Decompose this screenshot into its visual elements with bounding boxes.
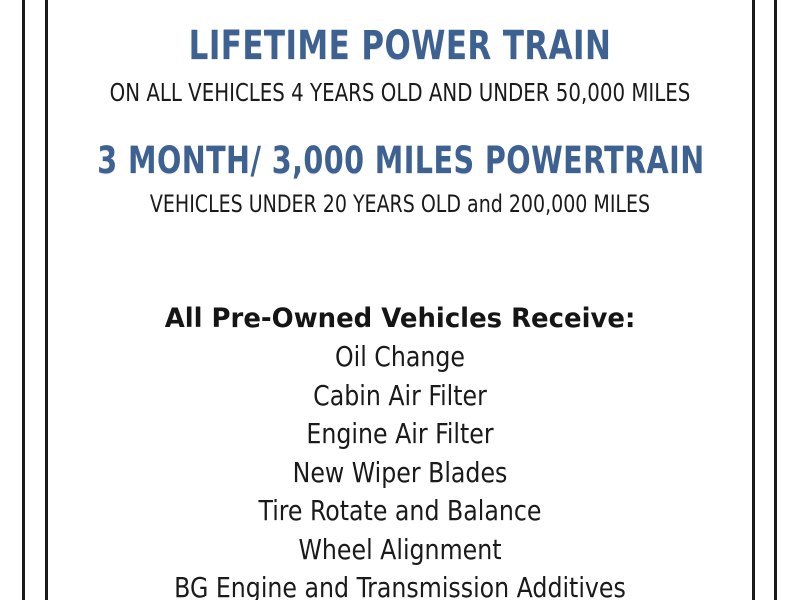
warranty-flyer: LIFETIME POWER TRAIN ON ALL VEHICLES 4 Y… (0, 0, 800, 600)
services-heading: All Pre-Owned Vehicles Receive: (62, 300, 738, 338)
service-item: Oil Change (69, 338, 731, 377)
border-rule-left-outer (22, 0, 25, 600)
service-item: Cabin Air Filter (69, 377, 731, 416)
services-list: Oil ChangeCabin Air FilterEngine Air Fil… (48, 338, 752, 600)
border-rule-right-outer (774, 0, 777, 600)
3month-powertrain-headline: 3 MONTH/ 3,000 MILES POWERTRAIN (97, 142, 702, 179)
lifetime-powertrain-headline: LIFETIME POWER TRAIN (97, 26, 702, 66)
services-section: All Pre-Owned Vehicles Receive: Oil Chan… (48, 300, 752, 600)
service-item: Wheel Alignment (69, 531, 731, 570)
service-item: Engine Air Filter (69, 415, 731, 454)
service-item: New Wiper Blades (69, 454, 731, 493)
warranty-block-lifetime-powertrain: LIFETIME POWER TRAIN ON ALL VEHICLES 4 Y… (48, 26, 752, 105)
warranty-block-3month-powertrain: 3 MONTH/ 3,000 MILES POWERTRAIN VEHICLES… (48, 142, 752, 216)
service-item: BG Engine and Transmission Additives (69, 569, 731, 600)
border-rule-right-inner (752, 0, 755, 600)
lifetime-powertrain-subline: ON ALL VEHICLES 4 YEARS OLD AND UNDER 50… (90, 80, 710, 105)
service-item: Tire Rotate and Balance (69, 492, 731, 531)
3month-powertrain-subline: VEHICLES UNDER 20 YEARS OLD and 200,000 … (90, 192, 710, 216)
